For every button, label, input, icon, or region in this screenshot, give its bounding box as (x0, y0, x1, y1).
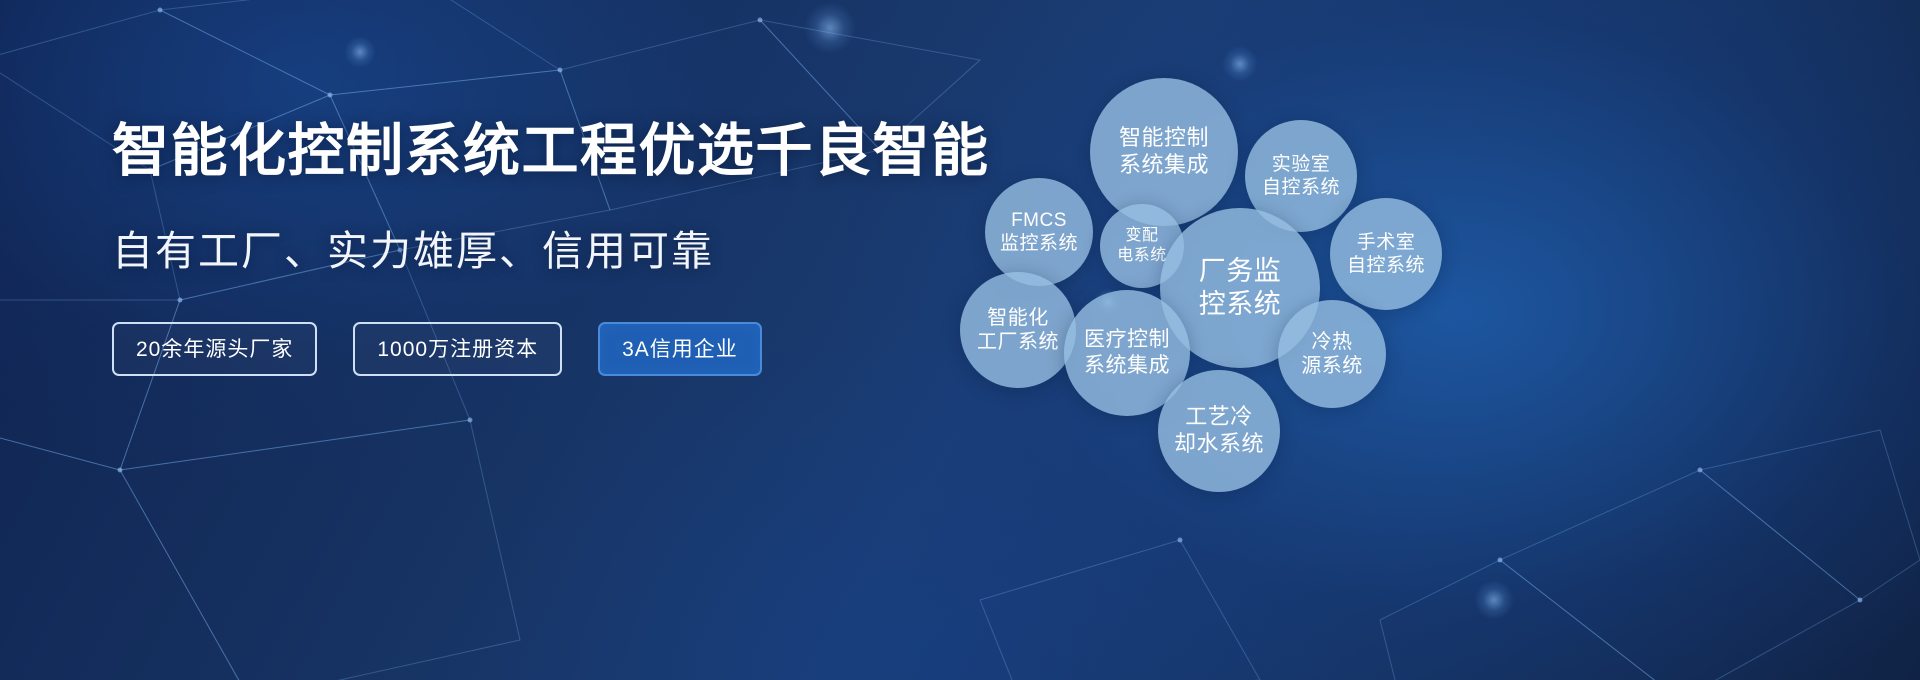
service-bubble-label: 自控系统 (1262, 176, 1340, 199)
service-bubble-2[interactable]: 智能控制系统集成 (1090, 78, 1238, 226)
service-bubble-label: 智能控制 (1119, 125, 1209, 152)
badge-3[interactable]: 3A信用企业 (598, 322, 762, 376)
service-bubble-label: 系统集成 (1084, 353, 1170, 379)
banner-copy: 智能化控制系统工程优选千良智能 自有工厂、实力雄厚、信用可靠 20余年源头厂家1… (112, 118, 992, 376)
service-bubble-9[interactable]: 冷热源系统 (1278, 300, 1386, 408)
service-bubble-label: 源系统 (1301, 354, 1363, 378)
page-title: 智能化控制系统工程优选千良智能 (112, 118, 992, 185)
service-bubble-label: 手术室 (1357, 231, 1416, 254)
glow-dot-3 (344, 36, 376, 68)
service-bubble-label: 却水系统 (1174, 431, 1264, 458)
service-bubble-label: 实验室 (1272, 153, 1331, 176)
badge-1[interactable]: 20余年源头厂家 (112, 322, 317, 376)
service-bubble-label: 厂务监 (1199, 255, 1282, 288)
service-bubble-label: 电系统 (1117, 246, 1167, 266)
service-bubble-label: 监控系统 (1000, 232, 1078, 255)
service-bubble-label: FMCS (1011, 209, 1067, 232)
service-bubble-label: 系统集成 (1119, 152, 1209, 179)
badge-2[interactable]: 1000万注册资本 (353, 322, 562, 376)
service-bubble-1[interactable]: FMCS监控系统 (985, 178, 1093, 286)
service-bubble-label: 智能化 (987, 306, 1049, 330)
badge-row: 20余年源头厂家1000万注册资本3A信用企业 (112, 322, 992, 376)
service-bubble-5[interactable]: 手术室自控系统 (1330, 198, 1442, 310)
glow-dot-1 (804, 2, 856, 54)
service-bubble-label: 工艺冷 (1185, 404, 1253, 431)
service-bubble-label: 控系统 (1199, 288, 1282, 321)
service-bubble-10[interactable]: 工艺冷却水系统 (1158, 370, 1280, 492)
hero-banner: 智能化控制系统工程优选千良智能 自有工厂、实力雄厚、信用可靠 20余年源头厂家1… (0, 0, 1920, 680)
service-bubble-label: 医疗控制 (1084, 327, 1170, 353)
service-bubble-cluster: FMCS监控系统智能控制系统集成实验室自控系统变配电系统手术室自控系统厂务监控系… (940, 0, 1920, 680)
service-bubble-label: 自控系统 (1347, 254, 1425, 277)
subtitle: 自有工厂、实力雄厚、信用可靠 (112, 227, 992, 276)
service-bubble-label: 冷热 (1312, 330, 1353, 354)
service-bubble-label: 变配 (1125, 226, 1158, 246)
